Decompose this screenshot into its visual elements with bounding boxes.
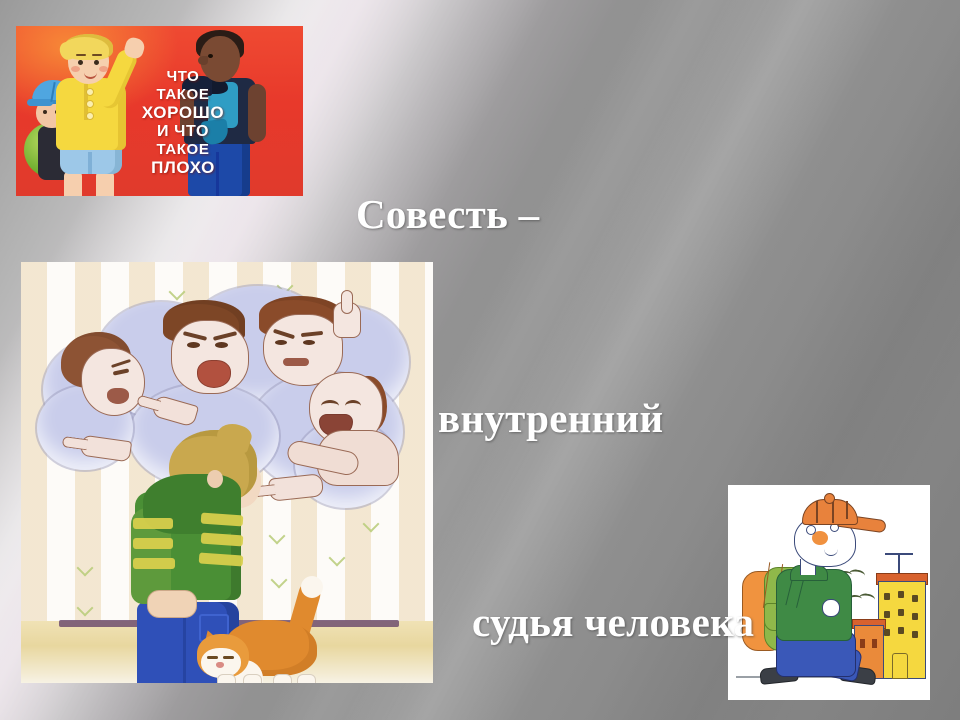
- poster-text-line-5: ТАКОЕ: [157, 141, 210, 158]
- blond-boy-cheek-right: [99, 66, 108, 72]
- cat-tail-tip: [301, 576, 323, 598]
- title-line-1: Совесть –: [356, 180, 912, 248]
- hoodie-stripe: [133, 558, 175, 569]
- cat-paw: [297, 674, 316, 683]
- hoodie-stripe: [133, 518, 173, 529]
- shirt-button: [86, 100, 94, 108]
- slide-title: Совесть – внутренний судья человека: [352, 44, 912, 720]
- dark-boy-eye: [208, 54, 213, 58]
- blond-boy-leg-right: [96, 172, 114, 196]
- presentation-slide: Совесть – внутренний судья человека: [0, 0, 960, 720]
- blond-boy-cheek-left: [71, 66, 80, 72]
- cat-paw: [243, 674, 262, 683]
- blond-boy-eye-right: [94, 60, 99, 65]
- title-line-3: судья человека: [472, 588, 912, 656]
- face-eye-right: [303, 340, 315, 345]
- shouting-face-man: [157, 300, 261, 400]
- small-boy-eye-left: [43, 110, 47, 114]
- shirt-button: [86, 112, 94, 120]
- cat-nose: [216, 662, 224, 668]
- face-skin: [81, 348, 145, 416]
- poster-text-line-2: ТАКОЕ: [157, 86, 210, 103]
- dark-boy-arm-right: [248, 84, 266, 142]
- jeans-seam: [183, 614, 186, 683]
- face-eye-left: [321, 400, 339, 412]
- cat-paw: [217, 674, 236, 683]
- face-mouth-open: [107, 388, 129, 404]
- face-mouth-shouting: [197, 360, 231, 388]
- poster-text-line-4: И ЧТО: [128, 123, 238, 141]
- blond-boy-brow-right: [92, 54, 102, 56]
- poster-caption: ЧТО ТАКОЕ ХОРОШО И ЧТО ТАКОЕ ПЛОХО: [128, 68, 238, 178]
- dark-boy-nose: [198, 56, 208, 65]
- cat-paw: [273, 674, 292, 683]
- shirt-button: [86, 88, 94, 96]
- face-eye-left: [275, 340, 287, 345]
- blond-boy-eye-left: [78, 60, 83, 65]
- blond-boy-leg-left: [64, 172, 82, 196]
- face-eye-right: [215, 342, 228, 348]
- poster-image-what-is-good-and-what-is-bad: ЧТО ТАКОЕ ХОРОШО И ЧТО ТАКОЕ ПЛОХО: [16, 26, 303, 196]
- cat-eye-left: [207, 656, 218, 659]
- poster-text-line-1: ЧТО: [167, 68, 200, 85]
- blond-boy-brow-left: [76, 54, 86, 56]
- poster-text-line-6: ПЛОХО: [151, 158, 215, 177]
- window: [912, 613, 918, 620]
- poster-text-line-3: ХОРОШО: [142, 103, 224, 122]
- cat-eye-right: [223, 656, 234, 659]
- window: [912, 595, 918, 602]
- window: [912, 631, 918, 638]
- hoodie-stripe: [133, 538, 173, 549]
- face-eye-left: [187, 342, 200, 348]
- title-line-2: внутренний: [438, 384, 912, 452]
- face-mouth: [283, 358, 309, 366]
- boy-ear: [207, 470, 223, 488]
- boy-hands-behind-back: [147, 590, 197, 618]
